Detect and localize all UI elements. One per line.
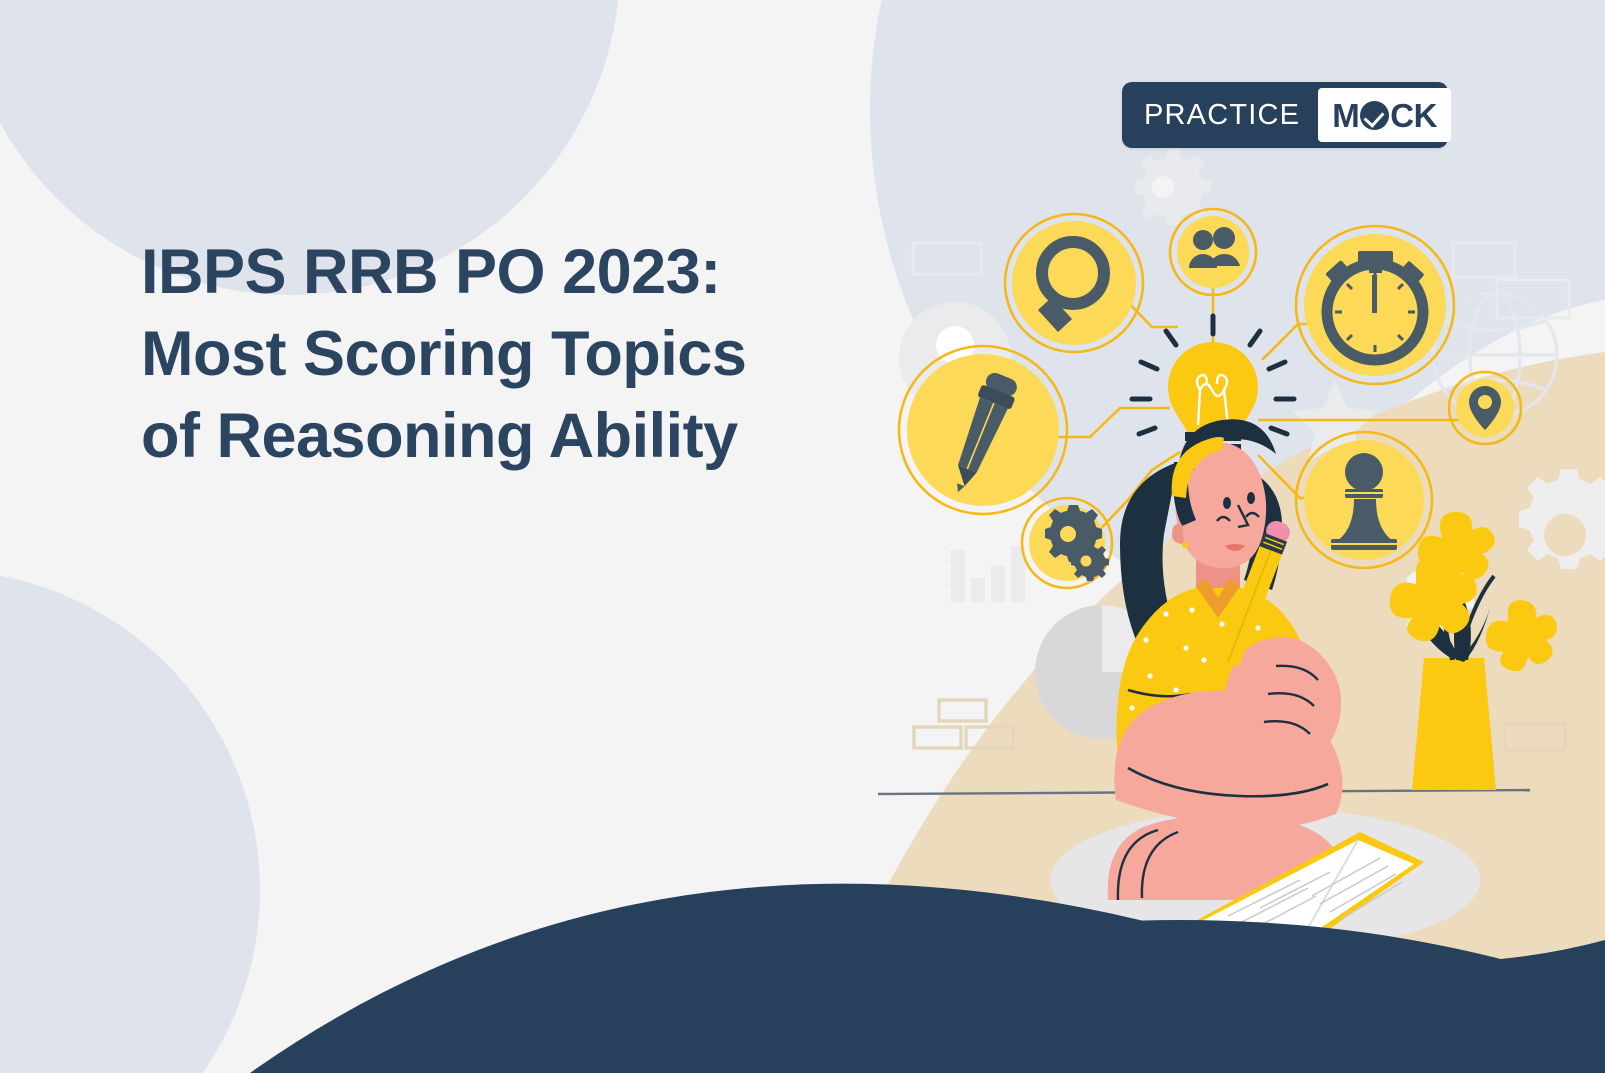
logo-mock-prefix: M: [1332, 99, 1359, 132]
vase: [1412, 658, 1496, 790]
gears-bubble: [1022, 498, 1112, 588]
pencil-bubble: [899, 346, 1067, 514]
headline-line-1: IBPS RRB PO 2023:: [141, 232, 901, 314]
decor-gear-white-large: [1519, 469, 1605, 569]
magnifier-bubble: [1005, 214, 1143, 352]
logo-mock-suffix: CK: [1390, 99, 1437, 132]
banner-artwork: [0, 0, 1605, 1073]
logo-mock-box: M CK: [1318, 88, 1451, 142]
headline-line-2: Most Scoring Topics: [141, 314, 901, 396]
people-bubble: [1170, 209, 1256, 295]
character-earring: [1182, 542, 1188, 548]
chess-pawn-bubble: [1296, 432, 1432, 568]
stopwatch-bubble: [1296, 226, 1454, 384]
headline-line-3: of Reasoning Ability: [141, 396, 901, 478]
check-circle-icon: [1360, 101, 1389, 130]
location-pin-bubble: [1449, 372, 1521, 444]
logo-practice-text: PRACTICE: [1128, 101, 1318, 130]
brand-logo[interactable]: PRACTICE M CK: [1122, 82, 1448, 148]
banner-root: PRACTICE M CK IBPS RRB PO 2023: Most Sco…: [0, 0, 1605, 1073]
logo-mock-text: M CK: [1332, 99, 1437, 132]
gear-outline-icon: [1135, 149, 1211, 225]
page-title: IBPS RRB PO 2023: Most Scoring Topics of…: [141, 232, 901, 478]
